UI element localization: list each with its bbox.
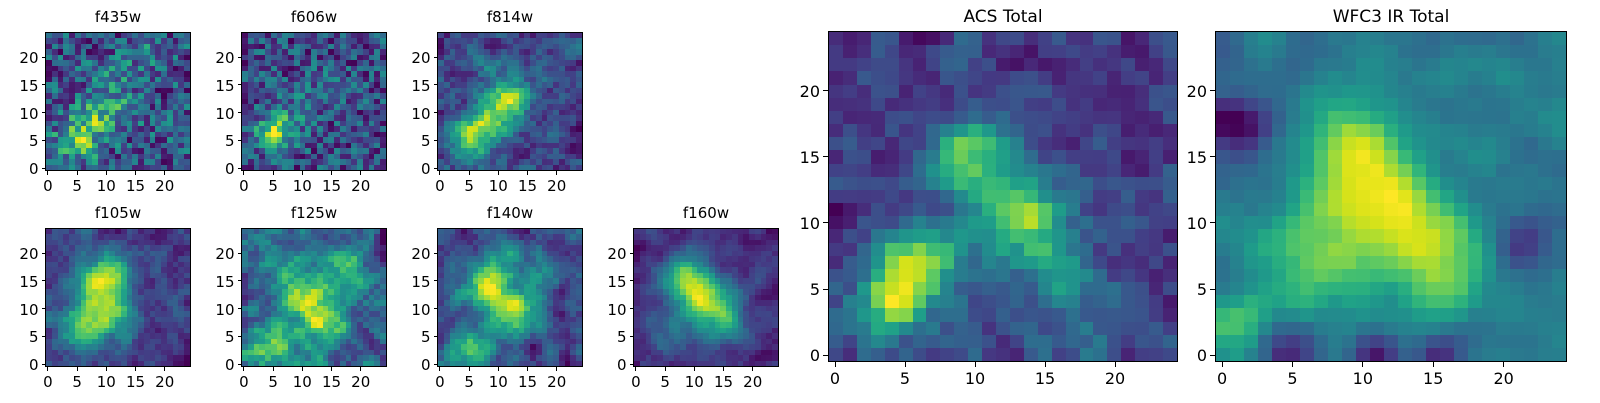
heatmap-f105w bbox=[45, 228, 191, 367]
x-tick-mark bbox=[1115, 362, 1116, 367]
y-tick-label: 20 bbox=[768, 82, 820, 101]
panel-f814w: f814w0510152005101520 bbox=[377, 8, 643, 207]
y-tick-label: 20 bbox=[377, 245, 431, 263]
y-tick-label: 10 bbox=[768, 214, 820, 233]
y-tick-label: 20 bbox=[377, 49, 431, 67]
x-tick-mark bbox=[302, 367, 303, 371]
y-tick-mark bbox=[238, 336, 242, 337]
x-tick-mark bbox=[273, 171, 274, 175]
x-tick-mark bbox=[331, 171, 332, 175]
y-tick-mark bbox=[238, 253, 242, 254]
y-tick-label: 15 bbox=[377, 77, 431, 95]
y-tick-label: 0 bbox=[181, 160, 235, 178]
y-tick-mark bbox=[434, 112, 438, 113]
y-tick-label: 10 bbox=[1155, 214, 1207, 233]
x-tick-label: 5 bbox=[885, 369, 925, 388]
x-tick-mark bbox=[360, 171, 361, 175]
heatmap-cells bbox=[438, 229, 582, 366]
x-tick-mark bbox=[302, 171, 303, 175]
x-tick-mark bbox=[975, 362, 976, 367]
x-tick-mark bbox=[469, 367, 470, 371]
y-tick-label: 5 bbox=[377, 328, 431, 346]
y-tick-label: 5 bbox=[181, 132, 235, 150]
y-tick-label: 10 bbox=[181, 105, 235, 123]
y-tick-label: 0 bbox=[573, 356, 627, 374]
y-tick-mark bbox=[238, 168, 242, 169]
heatmap-f435w bbox=[45, 32, 191, 171]
y-tick-mark bbox=[1210, 90, 1215, 91]
y-tick-label: 15 bbox=[768, 148, 820, 167]
x-tick-label: 10 bbox=[1343, 369, 1383, 388]
y-tick-label: 5 bbox=[768, 280, 820, 299]
y-tick-label: 0 bbox=[181, 356, 235, 374]
y-tick-label: 5 bbox=[181, 328, 235, 346]
y-tick-label: 15 bbox=[573, 273, 627, 291]
y-tick-mark bbox=[1210, 222, 1215, 223]
y-tick-mark bbox=[238, 308, 242, 309]
x-tick-label: 20 bbox=[341, 177, 381, 195]
y-tick-mark bbox=[1210, 355, 1215, 356]
x-tick-mark bbox=[694, 367, 695, 371]
panel-title-f435w: f435w bbox=[45, 8, 191, 26]
y-tick-label: 0 bbox=[1155, 346, 1207, 365]
x-tick-label: 0 bbox=[1202, 369, 1242, 388]
x-tick-label: 20 bbox=[341, 373, 381, 391]
y-tick-mark bbox=[434, 84, 438, 85]
heatmap-f125w bbox=[241, 228, 387, 367]
y-tick-mark bbox=[42, 84, 46, 85]
y-tick-mark bbox=[42, 364, 46, 365]
x-tick-mark bbox=[164, 367, 165, 371]
y-tick-mark bbox=[42, 308, 46, 309]
x-tick-mark bbox=[905, 362, 906, 367]
y-tick-label: 20 bbox=[181, 49, 235, 67]
x-tick-mark bbox=[273, 367, 274, 371]
y-tick-label: 0 bbox=[0, 356, 39, 374]
figure-canvas: f435w0510152005101520f606w05101520051015… bbox=[0, 0, 1600, 400]
y-tick-mark bbox=[630, 364, 634, 365]
heatmap-wfc3-ir-total bbox=[1215, 31, 1567, 362]
y-tick-label: 10 bbox=[181, 301, 235, 319]
x-tick-mark bbox=[77, 367, 78, 371]
y-tick-mark bbox=[42, 57, 46, 58]
y-tick-label: 5 bbox=[377, 132, 431, 150]
heatmap-cells bbox=[46, 229, 190, 366]
y-tick-mark bbox=[238, 112, 242, 113]
y-tick-mark bbox=[434, 308, 438, 309]
heatmap-cells bbox=[242, 229, 386, 366]
y-tick-mark bbox=[630, 336, 634, 337]
x-tick-mark bbox=[835, 362, 836, 367]
heatmap-cells bbox=[242, 33, 386, 170]
y-tick-mark bbox=[630, 253, 634, 254]
heatmap-f160w bbox=[633, 228, 779, 367]
x-tick-mark bbox=[527, 367, 528, 371]
y-tick-mark bbox=[238, 280, 242, 281]
x-tick-mark bbox=[331, 367, 332, 371]
y-tick-mark bbox=[823, 289, 828, 290]
x-tick-mark bbox=[135, 367, 136, 371]
y-tick-mark bbox=[434, 364, 438, 365]
heatmap-f814w bbox=[437, 32, 583, 171]
x-tick-label: 5 bbox=[1272, 369, 1312, 388]
y-tick-mark bbox=[1210, 289, 1215, 290]
y-tick-label: 5 bbox=[1155, 280, 1207, 299]
y-tick-label: 15 bbox=[1155, 148, 1207, 167]
x-tick-label: 20 bbox=[145, 177, 185, 195]
y-tick-label: 0 bbox=[377, 356, 431, 374]
y-tick-mark bbox=[823, 156, 828, 157]
y-tick-label: 5 bbox=[0, 328, 39, 346]
x-tick-mark bbox=[498, 171, 499, 175]
heatmap-cells bbox=[46, 33, 190, 170]
y-tick-mark bbox=[42, 336, 46, 337]
y-tick-label: 0 bbox=[377, 160, 431, 178]
x-tick-label: 20 bbox=[1484, 369, 1524, 388]
y-tick-label: 10 bbox=[573, 301, 627, 319]
x-tick-mark bbox=[1503, 362, 1504, 367]
x-tick-mark bbox=[77, 171, 78, 175]
x-tick-mark bbox=[556, 367, 557, 371]
x-tick-mark bbox=[635, 367, 636, 371]
y-tick-label: 5 bbox=[573, 328, 627, 346]
x-tick-label: 20 bbox=[537, 177, 577, 195]
y-tick-label: 20 bbox=[181, 245, 235, 263]
y-tick-mark bbox=[434, 253, 438, 254]
y-tick-mark bbox=[823, 355, 828, 356]
y-tick-mark bbox=[238, 57, 242, 58]
y-tick-label: 10 bbox=[377, 301, 431, 319]
x-tick-mark bbox=[243, 171, 244, 175]
x-tick-mark bbox=[1433, 362, 1434, 367]
x-tick-mark bbox=[556, 171, 557, 175]
x-tick-mark bbox=[47, 171, 48, 175]
y-tick-label: 20 bbox=[573, 245, 627, 263]
x-tick-label: 15 bbox=[1413, 369, 1453, 388]
panel-title-f105w: f105w bbox=[45, 204, 191, 222]
y-tick-mark bbox=[630, 280, 634, 281]
panel-wfc3-ir-total: WFC3 IR Total0510152005101520 bbox=[1155, 7, 1600, 398]
x-tick-mark bbox=[498, 367, 499, 371]
y-tick-label: 15 bbox=[181, 77, 235, 95]
y-tick-mark bbox=[434, 336, 438, 337]
y-tick-label: 20 bbox=[1155, 82, 1207, 101]
x-tick-label: 20 bbox=[733, 373, 773, 391]
y-tick-mark bbox=[823, 222, 828, 223]
x-tick-mark bbox=[665, 367, 666, 371]
x-tick-mark bbox=[469, 171, 470, 175]
x-tick-mark bbox=[243, 367, 244, 371]
x-tick-label: 15 bbox=[1025, 369, 1065, 388]
y-tick-mark bbox=[434, 57, 438, 58]
x-tick-mark bbox=[1222, 362, 1223, 367]
x-tick-mark bbox=[1292, 362, 1293, 367]
y-tick-mark bbox=[42, 112, 46, 113]
heatmap-acs-total bbox=[828, 31, 1178, 362]
y-tick-label: 10 bbox=[0, 105, 39, 123]
y-tick-mark bbox=[238, 364, 242, 365]
x-tick-mark bbox=[1362, 362, 1363, 367]
y-tick-label: 15 bbox=[0, 273, 39, 291]
y-tick-mark bbox=[42, 280, 46, 281]
y-tick-label: 20 bbox=[0, 49, 39, 67]
y-tick-mark bbox=[238, 84, 242, 85]
x-tick-mark bbox=[527, 171, 528, 175]
panel-title-f125w: f125w bbox=[241, 204, 387, 222]
y-tick-label: 15 bbox=[181, 273, 235, 291]
y-tick-label: 0 bbox=[768, 346, 820, 365]
y-tick-label: 20 bbox=[0, 245, 39, 263]
x-tick-label: 20 bbox=[537, 373, 577, 391]
x-tick-mark bbox=[752, 367, 753, 371]
y-tick-mark bbox=[1210, 156, 1215, 157]
heatmap-cells bbox=[1216, 32, 1566, 361]
y-tick-mark bbox=[42, 253, 46, 254]
y-tick-label: 15 bbox=[0, 77, 39, 95]
heatmap-cells bbox=[829, 32, 1177, 361]
panel-title-f814w: f814w bbox=[437, 8, 583, 26]
y-tick-label: 0 bbox=[0, 160, 39, 178]
y-tick-mark bbox=[434, 140, 438, 141]
y-tick-mark bbox=[434, 280, 438, 281]
panel-title-f160w: f160w bbox=[633, 204, 779, 222]
y-tick-label: 10 bbox=[0, 301, 39, 319]
y-tick-mark bbox=[823, 90, 828, 91]
y-tick-mark bbox=[434, 168, 438, 169]
panel-title-wfc3-ir-total: WFC3 IR Total bbox=[1215, 7, 1567, 27]
x-tick-label: 0 bbox=[815, 369, 855, 388]
x-tick-mark bbox=[135, 171, 136, 175]
heatmap-f140w bbox=[437, 228, 583, 367]
x-tick-mark bbox=[439, 367, 440, 371]
x-tick-mark bbox=[439, 171, 440, 175]
heatmap-f606w bbox=[241, 32, 387, 171]
heatmap-cells bbox=[438, 33, 582, 170]
heatmap-cells bbox=[634, 229, 778, 366]
panel-title-acs-total: ACS Total bbox=[828, 7, 1178, 27]
x-tick-label: 20 bbox=[145, 373, 185, 391]
x-tick-label: 20 bbox=[1095, 369, 1135, 388]
y-tick-mark bbox=[238, 140, 242, 141]
y-tick-mark bbox=[630, 308, 634, 309]
x-tick-label: 10 bbox=[955, 369, 995, 388]
x-tick-mark bbox=[106, 171, 107, 175]
panel-title-f606w: f606w bbox=[241, 8, 387, 26]
x-tick-mark bbox=[723, 367, 724, 371]
y-tick-label: 10 bbox=[377, 105, 431, 123]
x-tick-mark bbox=[47, 367, 48, 371]
panel-title-f140w: f140w bbox=[437, 204, 583, 222]
y-tick-mark bbox=[42, 168, 46, 169]
x-tick-mark bbox=[164, 171, 165, 175]
y-tick-label: 15 bbox=[377, 273, 431, 291]
y-tick-mark bbox=[42, 140, 46, 141]
x-tick-mark bbox=[360, 367, 361, 371]
y-tick-label: 5 bbox=[0, 132, 39, 150]
x-tick-mark bbox=[1045, 362, 1046, 367]
x-tick-mark bbox=[106, 367, 107, 371]
